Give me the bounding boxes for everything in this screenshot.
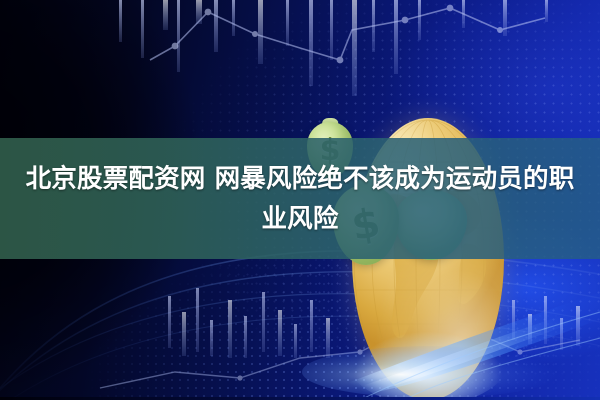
candlesticks-top (119, 0, 548, 96)
stock-news-banner: $ $ (0, 0, 600, 400)
line-chart-icon (150, 5, 545, 64)
page-title: 北京股票配资网 网暴风险绝不该成为运动员的职业风险 (0, 138, 600, 259)
sweep-arcs (0, 251, 600, 400)
